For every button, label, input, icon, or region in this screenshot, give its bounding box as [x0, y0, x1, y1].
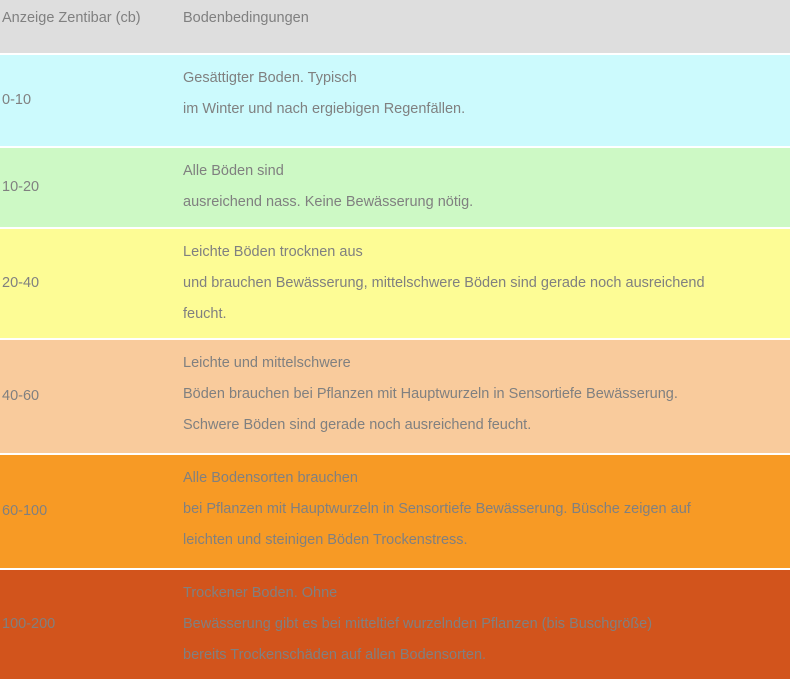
cell-range: 60-100 [0, 496, 183, 527]
cell-range: 10-20 [0, 172, 183, 203]
cell-conditions: Alle Bodensorten brauchen bei Pflanzen m… [183, 455, 790, 564]
column-header-conditions: Bodenbedingungen [183, 0, 790, 33]
cell-range: 40-60 [0, 381, 183, 412]
condition-line: Bewässerung gibt es bei mitteltief wurze… [183, 609, 784, 640]
cell-range: 100-200 [0, 609, 183, 640]
cell-conditions: Leichte und mittelschwere Böden brauchen… [183, 340, 790, 449]
condition-line: Leichte Böden trocknen aus [183, 237, 784, 268]
cell-range: 0-10 [0, 85, 183, 116]
condition-line: leichten und steinigen Böden Trockenstre… [183, 525, 784, 556]
condition-line: ausreichend nass. Keine Bewässerung nöti… [183, 187, 784, 218]
condition-line: Trockener Boden. Ohne [183, 578, 784, 609]
condition-line: bereits Trockenschäden auf allen Bodenso… [183, 640, 784, 671]
condition-line: im Winter und nach ergiebigen Regenfälle… [183, 94, 784, 125]
condition-line: und brauchen Bewässerung, mittelschwere … [183, 268, 784, 299]
condition-line: Leichte und mittelschwere [183, 348, 784, 379]
cell-range: 20-40 [0, 268, 183, 299]
cell-conditions: Gesättigter Boden. Typisch im Winter und… [183, 55, 790, 133]
condition-line: bei Pflanzen mit Hauptwurzeln in Sensort… [183, 494, 784, 525]
table-row: 0-10 Gesättigter Boden. Typisch im Winte… [0, 55, 790, 148]
table-row: 10-20 Alle Böden sind ausreichend nass. … [0, 148, 790, 229]
condition-line: Böden brauchen bei Pflanzen mit Hauptwur… [183, 379, 784, 410]
column-header-range: Anzeige Zentibar (cb) [0, 0, 183, 33]
table-row: 20-40 Leichte Böden trocknen aus und bra… [0, 229, 790, 340]
condition-line: Schwere Böden sind gerade noch ausreiche… [183, 410, 784, 441]
cell-conditions: Alle Böden sind ausreichend nass. Keine … [183, 148, 790, 226]
table-row: 60-100 Alle Bodensorten brauchen bei Pfl… [0, 455, 790, 570]
soil-conditions-table: Anzeige Zentibar (cb) Bodenbedingungen 0… [0, 0, 790, 679]
condition-line: Gesättigter Boden. Typisch [183, 63, 784, 94]
condition-line: Alle Bodensorten brauchen [183, 463, 784, 494]
condition-line: feucht. [183, 299, 784, 330]
cell-conditions: Leichte Böden trocknen aus und brauchen … [183, 229, 790, 338]
table-row: 40-60 Leichte und mittelschwere Böden br… [0, 340, 790, 455]
table-row: 100-200 Trockener Boden. Ohne Bewässerun… [0, 570, 790, 679]
condition-line: Alle Böden sind [183, 156, 784, 187]
cell-conditions: Trockener Boden. Ohne Bewässerung gibt e… [183, 570, 790, 679]
table-header-row: Anzeige Zentibar (cb) Bodenbedingungen [0, 0, 790, 55]
